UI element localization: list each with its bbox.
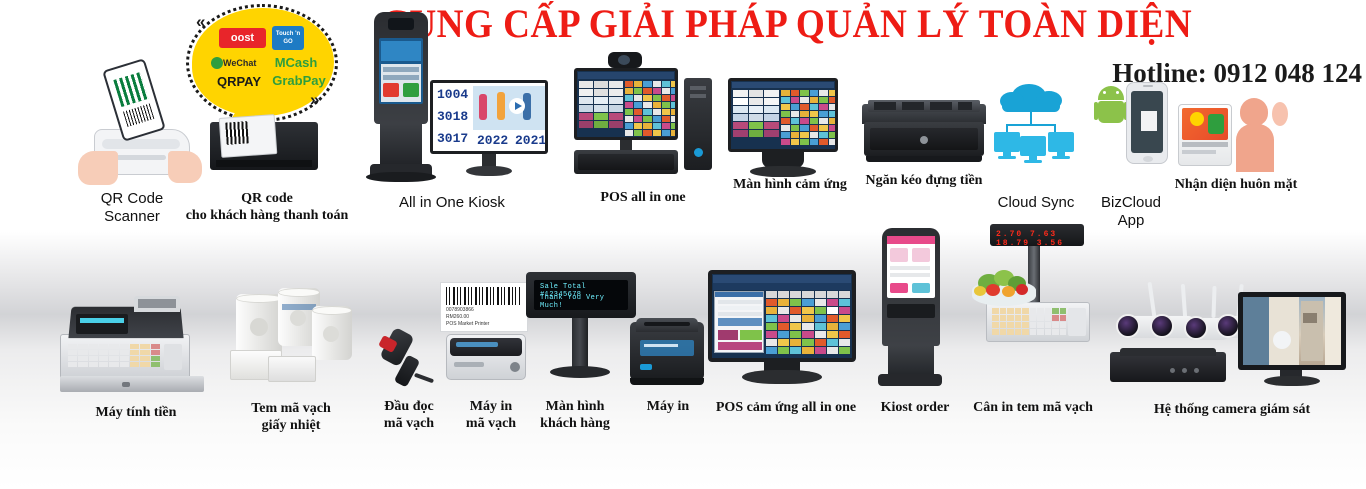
label-thermal-label-roll: Tem mã vạch giấy nhiệt xyxy=(224,400,358,434)
product-camera-system xyxy=(1104,282,1356,390)
queue-number-2: 3018 xyxy=(437,109,468,124)
product-label-scale: 2.70 7.63 18.79 3.56 xyxy=(966,224,1092,390)
label-all-in-one-kiosk: All in One Kiosk xyxy=(386,194,518,212)
product-all-in-one-kiosk xyxy=(366,12,436,182)
product-pos-all-in-one xyxy=(568,52,718,174)
product-bizcloud-app xyxy=(1092,82,1168,174)
product-qr-code-payment: « » oost Touch 'n GO WeChat Pay MCash QR… xyxy=(186,4,341,184)
label-face-recognition: Nhận diện huôn mặt xyxy=(1160,176,1312,193)
label-camera-system: Hệ thống camera giám sát xyxy=(1122,401,1342,418)
logo-maybank-qrpay: QRPAY xyxy=(208,72,270,92)
product-thermal-label-roll xyxy=(222,286,352,390)
product-qr-code-scanner xyxy=(72,55,202,180)
label-cash-drawer: Ngăn kéo đựng tiền xyxy=(856,172,992,189)
customer-display-line2: Thank You Very Much! xyxy=(540,294,628,310)
queue-number-4: 2022 xyxy=(477,133,508,148)
label-kiosk-order: Kiost order xyxy=(872,399,958,416)
product-pos-touch-all-in-one xyxy=(708,270,864,390)
label-barcode-reader: Đầu đọc mã vạch xyxy=(368,398,450,432)
product-cash-register xyxy=(60,296,204,394)
label-bizcloud-app: BizCloud App xyxy=(1086,194,1176,230)
label-cloud-sync: Cloud Sync xyxy=(980,194,1092,212)
product-queue-display-monitor: 1004 3018 3017 2022 2021 xyxy=(430,80,554,178)
product-receipt-printer xyxy=(630,318,708,390)
headline-text: CUNG CẤP GIẢI PHÁP QUẢN LÝ TOÀN DIỆN xyxy=(382,2,1293,46)
label-label-scale: Cân in tem mã vạch xyxy=(958,399,1108,416)
logo-mcash: MCash xyxy=(270,54,322,71)
product-kiosk-order xyxy=(874,228,946,390)
promo-banner: CUNG CẤP GIẢI PHÁP QUẢN LÝ TOÀN DIỆN Hot… xyxy=(0,0,1366,489)
logo-touch-n-go: Touch 'n GO xyxy=(272,26,304,50)
barcode-label-code: 0078903866 xyxy=(446,307,474,313)
barcode-label-desc: POS Market Printer xyxy=(446,321,489,327)
product-face-recognition xyxy=(1178,98,1288,176)
product-barcode-reader xyxy=(376,326,438,390)
label-pos-all-in-one: POS all in one xyxy=(578,189,708,206)
label-customer-display: Màn hình khách hàng xyxy=(518,398,632,432)
label-touch-monitor: Màn hình cảm ứng xyxy=(722,176,858,193)
product-customer-display: Sale Total #12345678 Thank You Very Much… xyxy=(524,272,638,388)
logo-grabpay: GrabPay xyxy=(270,72,328,90)
label-cash-register: Máy tính tiền xyxy=(62,404,210,421)
barcode-label-price: RM260.00 xyxy=(446,314,469,320)
product-cash-drawer xyxy=(862,98,986,170)
logo-boost: oost xyxy=(219,28,266,48)
label-qr-code-payment: QR code cho khách hàng thanh toán xyxy=(180,190,354,224)
queue-number-3: 3017 xyxy=(437,131,468,146)
label-pos-touch-all-in-one: POS cảm ứng all in one xyxy=(700,399,872,416)
queue-number-5: 2021 xyxy=(515,133,545,148)
product-label-printer: 0078903866 RM260.00 POS Market Printer xyxy=(440,282,532,390)
queue-number-1: 1004 xyxy=(437,87,468,102)
product-cloud-sync xyxy=(994,84,1078,172)
product-touch-monitor xyxy=(728,78,852,178)
